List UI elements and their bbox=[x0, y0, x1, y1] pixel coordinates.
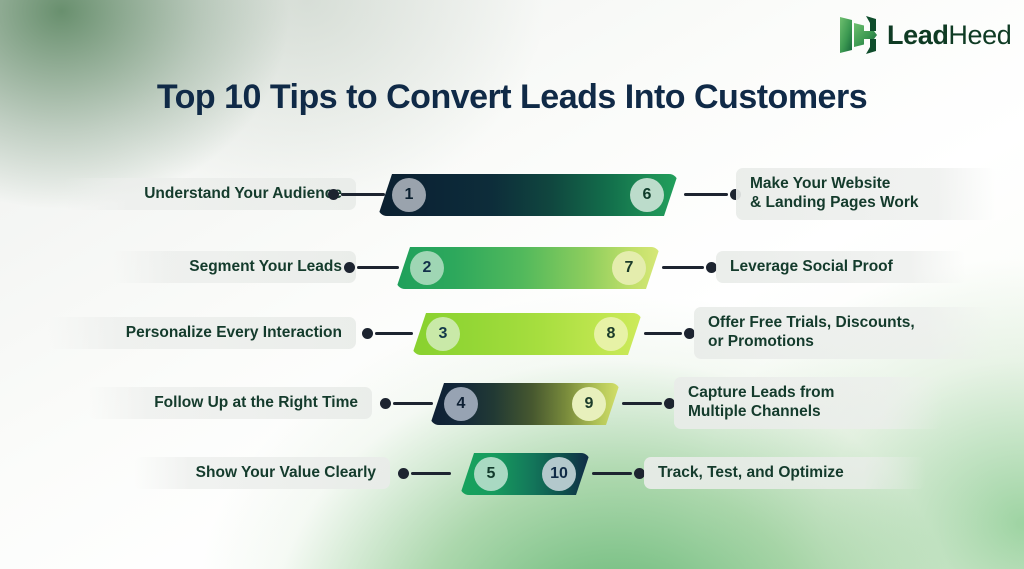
brand-name-light: Heed bbox=[948, 20, 1011, 50]
tip-row-3: Personalize Every Interaction 3 8 Offer … bbox=[0, 305, 1024, 361]
infographic-canvas: LeadHeed Top 10 Tips to Convert Leads In… bbox=[0, 0, 1024, 569]
tip-number-6: 6 bbox=[630, 178, 664, 212]
connector-2 bbox=[344, 239, 399, 295]
connector-1 bbox=[328, 166, 385, 222]
tip-bar-1: 1 6 bbox=[378, 174, 678, 216]
tip-label-5: Show Your Value Clearly bbox=[134, 457, 390, 490]
connector-5 bbox=[398, 445, 451, 501]
connector-line bbox=[644, 332, 682, 335]
connector-8 bbox=[644, 305, 695, 361]
connector-line bbox=[411, 472, 451, 475]
connector-line bbox=[622, 402, 662, 405]
tip-number-5: 5 bbox=[474, 457, 508, 491]
connector-line bbox=[592, 472, 632, 475]
connector-line bbox=[357, 266, 399, 269]
connector-9 bbox=[622, 375, 675, 431]
tip-row-5: Show Your Value Clearly 5 10 Track, Test… bbox=[0, 445, 1024, 501]
tip-bar-5: 5 10 bbox=[460, 453, 590, 495]
connector-line bbox=[375, 332, 413, 335]
tip-label-7: Leverage Social Proof bbox=[716, 251, 966, 284]
tip-label-1: Understand Your Audience bbox=[64, 178, 356, 211]
connector-dot-icon bbox=[362, 328, 373, 339]
tip-number-8: 8 bbox=[594, 317, 628, 351]
tip-number-4: 4 bbox=[444, 387, 478, 421]
tip-label-2: Segment Your Leads bbox=[112, 251, 356, 284]
brand-wordmark: LeadHeed bbox=[887, 22, 1011, 49]
connector-dot-icon bbox=[398, 468, 409, 479]
tip-label-3: Personalize Every Interaction bbox=[48, 317, 356, 350]
connector-7 bbox=[662, 239, 717, 295]
tip-label-8: Offer Free Trials, Discounts, or Promoti… bbox=[694, 307, 994, 359]
tip-number-2: 2 bbox=[410, 251, 444, 285]
tip-bar-3: 3 8 bbox=[412, 313, 642, 355]
brand-name-bold: Lead bbox=[887, 20, 948, 50]
tip-label-6: Make Your Website & Landing Pages Work bbox=[736, 168, 996, 220]
connector-line bbox=[341, 193, 385, 196]
page-title: Top 10 Tips to Convert Leads Into Custom… bbox=[0, 79, 1024, 116]
connector-dot-icon bbox=[380, 398, 391, 409]
tip-row-1: Understand Your Audience 1 6 Make Your W… bbox=[0, 166, 1024, 222]
tip-label-9: Capture Leads from Multiple Channels bbox=[674, 377, 942, 429]
tip-row-2: Segment Your Leads 2 7 Leverage Social P… bbox=[0, 239, 1024, 295]
connector-10 bbox=[592, 445, 645, 501]
tip-number-1: 1 bbox=[392, 178, 426, 212]
tip-number-9: 9 bbox=[572, 387, 606, 421]
tip-number-7: 7 bbox=[612, 251, 646, 285]
tip-label-10: Track, Test, and Optimize bbox=[644, 457, 926, 490]
connector-4 bbox=[380, 375, 433, 431]
tip-bar-4: 4 9 bbox=[430, 383, 620, 425]
connector-6 bbox=[684, 166, 741, 222]
tip-label-4: Follow Up at the Right Time bbox=[88, 387, 372, 420]
brand-logo: LeadHeed bbox=[838, 14, 1011, 56]
connector-line bbox=[393, 402, 433, 405]
leadheed-arrow-logo-icon bbox=[838, 14, 878, 56]
tip-row-4: Follow Up at the Right Time 4 9 Capture … bbox=[0, 375, 1024, 431]
tip-number-10: 10 bbox=[542, 457, 576, 491]
tip-number-3: 3 bbox=[426, 317, 460, 351]
connector-dot-icon bbox=[344, 262, 355, 273]
connector-line bbox=[684, 193, 728, 196]
connector-line bbox=[662, 266, 704, 269]
connector-3 bbox=[362, 305, 413, 361]
connector-dot-icon bbox=[328, 189, 339, 200]
tip-bar-2: 2 7 bbox=[396, 247, 660, 289]
